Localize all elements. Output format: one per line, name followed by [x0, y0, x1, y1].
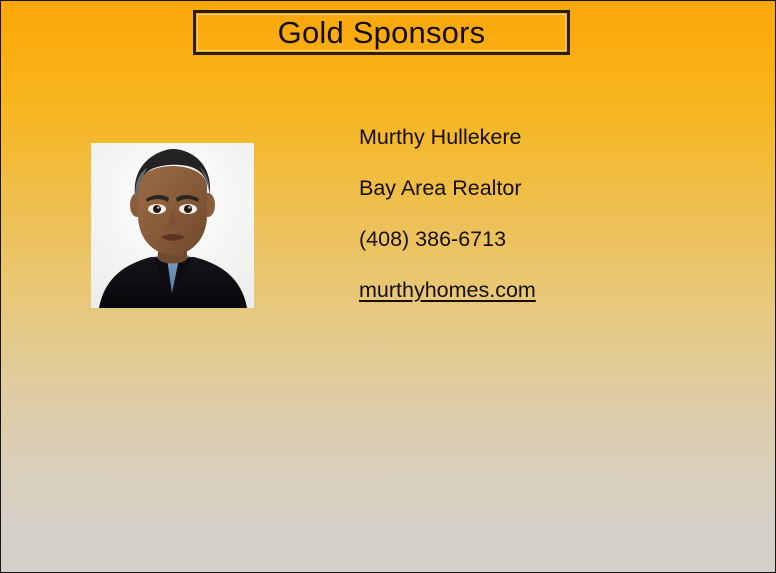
page-title: Gold Sponsors — [278, 17, 486, 48]
sponsor-phone: (408) 386-6713 — [359, 229, 739, 251]
sponsor-photo — [91, 143, 254, 308]
sponsor-details: Murthy Hullekere Bay Area Realtor (408) … — [359, 127, 739, 302]
sponsor-portrait-image — [91, 143, 254, 308]
slide-title-box: Gold Sponsors — [193, 10, 570, 55]
sponsor-website-link[interactable]: murthyhomes.com — [359, 280, 739, 302]
sponsor-name: Murthy Hullekere — [359, 127, 739, 149]
gold-sponsors-slide: Gold Sponsors — [0, 0, 776, 573]
sponsor-role: Bay Area Realtor — [359, 178, 739, 200]
